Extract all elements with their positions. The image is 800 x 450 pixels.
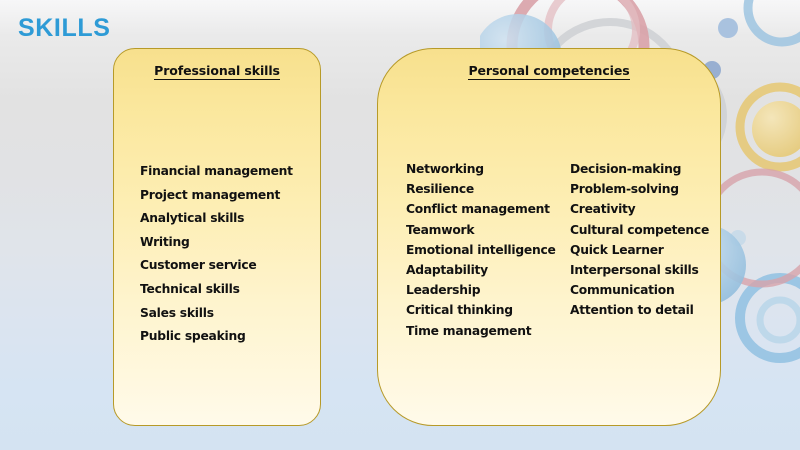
list-item: Sales skills — [140, 306, 293, 320]
list-item: Networking — [406, 162, 556, 176]
list-item: Teamwork — [406, 223, 556, 237]
slide-canvas: SKILLS Professional skills Financial man… — [0, 0, 800, 450]
list-item: Analytical skills — [140, 211, 293, 225]
list-item: Creativity — [570, 202, 709, 216]
list-item: Leadership — [406, 283, 556, 297]
panel-personal-competencies: Personal competencies Networking Resilie… — [377, 48, 721, 426]
list-item: Customer service — [140, 258, 293, 272]
panel-heading-professional: Professional skills — [114, 63, 320, 78]
skill-list-personal-column-1: Networking Resilience Conflict managemen… — [406, 162, 556, 344]
list-item: Time management — [406, 324, 556, 338]
list-item: Cultural competence — [570, 223, 709, 237]
panel-heading-professional-text: Professional skills — [154, 63, 280, 80]
list-item: Quick Learner — [570, 243, 709, 257]
list-item: Attention to detail — [570, 303, 709, 317]
list-item: Emotional intelligence — [406, 243, 556, 257]
panel-professional-skills: Professional skills Financial management… — [113, 48, 321, 426]
list-item: Project management — [140, 188, 293, 202]
list-item: Writing — [140, 235, 293, 249]
list-item: Financial management — [140, 164, 293, 178]
skill-list-personal-column-2: Decision-making Problem-solving Creativi… — [570, 162, 709, 324]
skill-list-professional: Financial management Project management … — [140, 164, 293, 353]
panel-heading-personal-text: Personal competencies — [468, 63, 629, 80]
panel-heading-personal: Personal competencies — [378, 63, 720, 78]
faint-artifact-text — [6, 1, 102, 12]
list-item: Technical skills — [140, 282, 293, 296]
list-item: Problem-solving — [570, 182, 709, 196]
page-title: SKILLS — [18, 14, 111, 43]
list-item: Public speaking — [140, 329, 293, 343]
list-item: Conflict management — [406, 202, 556, 216]
list-item: Resilience — [406, 182, 556, 196]
list-item: Critical thinking — [406, 303, 556, 317]
list-item: Decision-making — [570, 162, 709, 176]
list-item: Communication — [570, 283, 709, 297]
list-item: Adaptability — [406, 263, 556, 277]
list-item: Interpersonal skills — [570, 263, 709, 277]
